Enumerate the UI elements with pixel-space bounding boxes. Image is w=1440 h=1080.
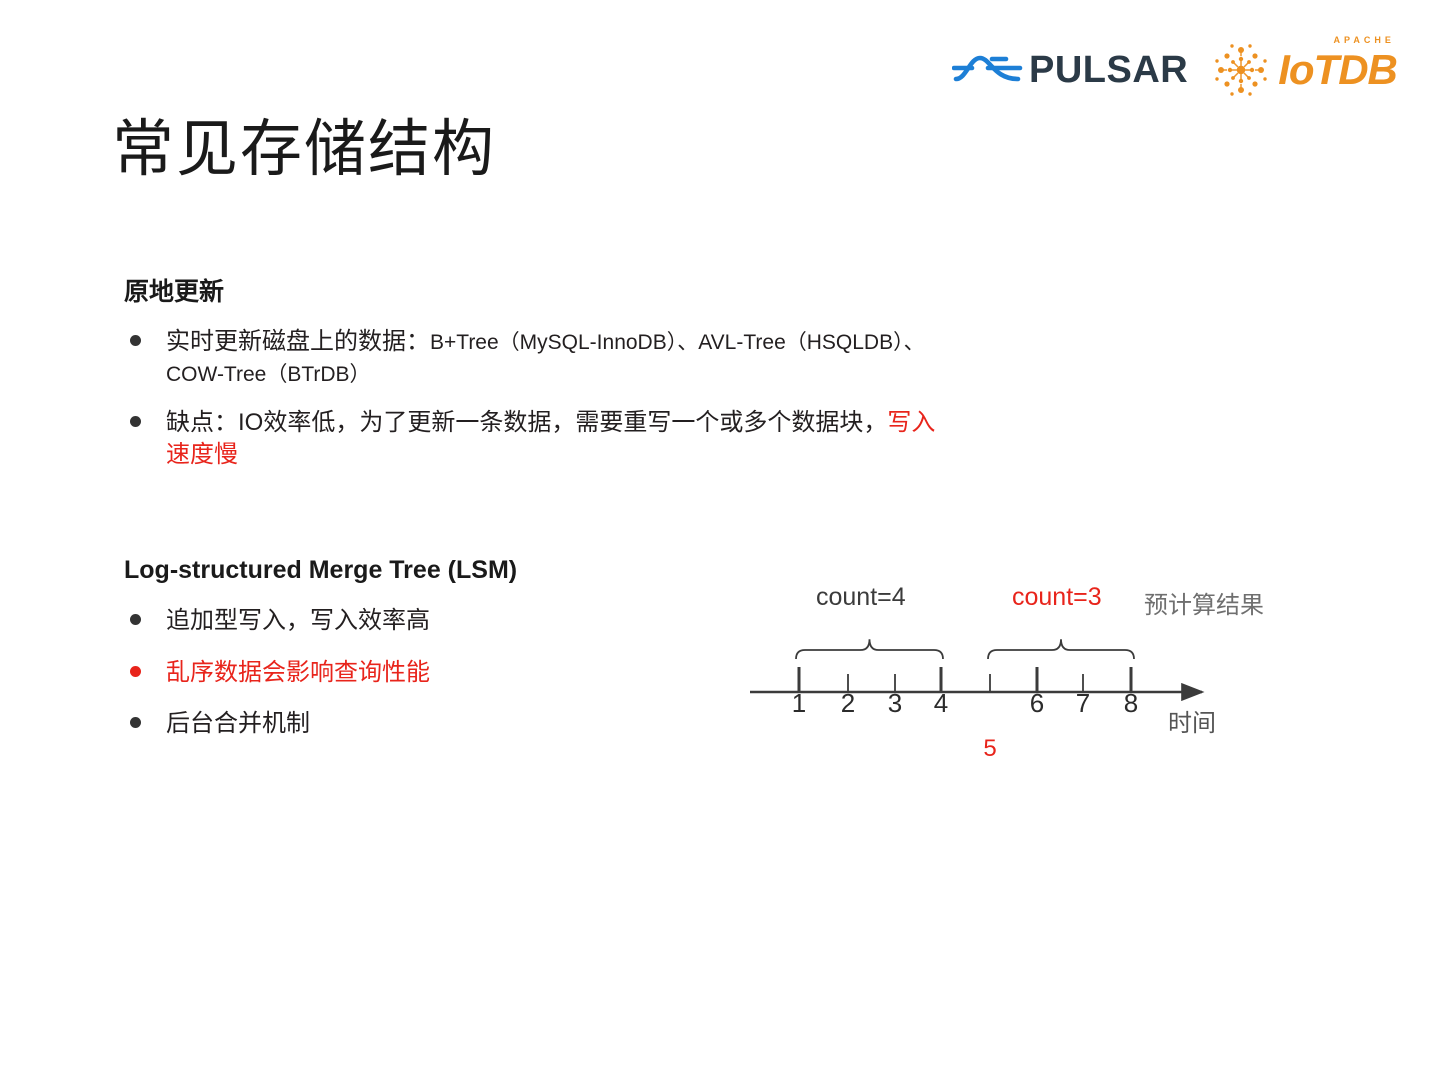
- tick-label: 1: [792, 688, 806, 719]
- brace-group: [796, 639, 1134, 659]
- tick-label: 5: [983, 735, 996, 763]
- page-title: 常见存储结构: [112, 116, 496, 184]
- bullet-dot-icon: [130, 335, 141, 346]
- section-in-place-update: 原地更新 实时更新磁盘上的数据：B+Tree（MySQL-InnoDB）、AVL…: [124, 272, 944, 471]
- bullet-dot-icon: [130, 717, 141, 728]
- logo-bar: PULSAR: [952, 34, 1382, 106]
- bullet-text: 实时更新磁盘上的数据：B+Tree（MySQL-InnoDB）、AVL-Tree…: [166, 328, 925, 387]
- tick-label: 2: [841, 688, 855, 719]
- section-heading: Log-structured Merge Tree (LSM): [124, 556, 684, 585]
- section-heading: 原地更新: [124, 272, 944, 308]
- apache-pulsar-logo: PULSAR: [952, 49, 1188, 91]
- bullet-dot-icon: [130, 666, 141, 677]
- list-item: 追加型写入，写入效率高: [124, 605, 684, 637]
- iotdb-wordmark: IoTDB: [1278, 46, 1397, 93]
- iotdb-burst-icon: [1210, 39, 1272, 101]
- bullet-dot-icon: [130, 614, 141, 625]
- tick-label: 7: [1076, 688, 1090, 719]
- bullet-text: 乱序数据会影响查询性能: [166, 659, 430, 686]
- iotdb-apache-label: APACHE: [1334, 35, 1395, 45]
- timeline-diagram: count=4 count=3 预计算结果 时间 12345678: [740, 575, 1270, 775]
- bullet-text-part: 实时更新磁盘上的数据：: [166, 328, 430, 355]
- pulsar-wave-icon: [952, 49, 1024, 91]
- tick-label: 4: [934, 688, 948, 719]
- iotdb-wordmark-wrap: APACHE IoTDB: [1278, 49, 1397, 91]
- timeline-svg: [740, 575, 1270, 775]
- list-item: 缺点：IO效率低，为了更新一条数据，需要重写一个或多个数据块，写入速度慢: [124, 407, 944, 470]
- bullet-text: 追加型写入，写入效率高: [166, 607, 430, 634]
- list-item: 后台合并机制: [124, 708, 684, 740]
- bullet-text: 缺点：IO效率低，为了更新一条数据，需要重写一个或多个数据块，写入速度慢: [166, 409, 935, 468]
- tick-label: 3: [888, 688, 902, 719]
- bullet-text-part: 缺点：IO效率低，为了更新一条数据，需要重写一个或多个数据块，: [166, 409, 887, 436]
- bullet-list: 追加型写入，写入效率高 乱序数据会影响查询性能 后台合并机制: [124, 605, 684, 740]
- bullet-dot-icon: [130, 416, 141, 427]
- list-item: 乱序数据会影响查询性能: [124, 657, 684, 689]
- bullet-list: 实时更新磁盘上的数据：B+Tree（MySQL-InnoDB）、AVL-Tree…: [124, 326, 944, 471]
- tick-label: 6: [1030, 688, 1044, 719]
- pulsar-wordmark: PULSAR: [1029, 51, 1188, 89]
- range-brace: [796, 639, 943, 659]
- tick-label: 8: [1124, 688, 1138, 719]
- slide-canvas: PULSAR: [0, 0, 1440, 1080]
- apache-iotdb-logo: APACHE IoTDB: [1210, 39, 1397, 101]
- section-lsm: Log-structured Merge Tree (LSM) 追加型写入，写入…: [124, 556, 684, 740]
- bullet-text: 后台合并机制: [166, 710, 310, 737]
- range-brace: [988, 639, 1134, 659]
- list-item: 实时更新磁盘上的数据：B+Tree（MySQL-InnoDB）、AVL-Tree…: [124, 326, 944, 389]
